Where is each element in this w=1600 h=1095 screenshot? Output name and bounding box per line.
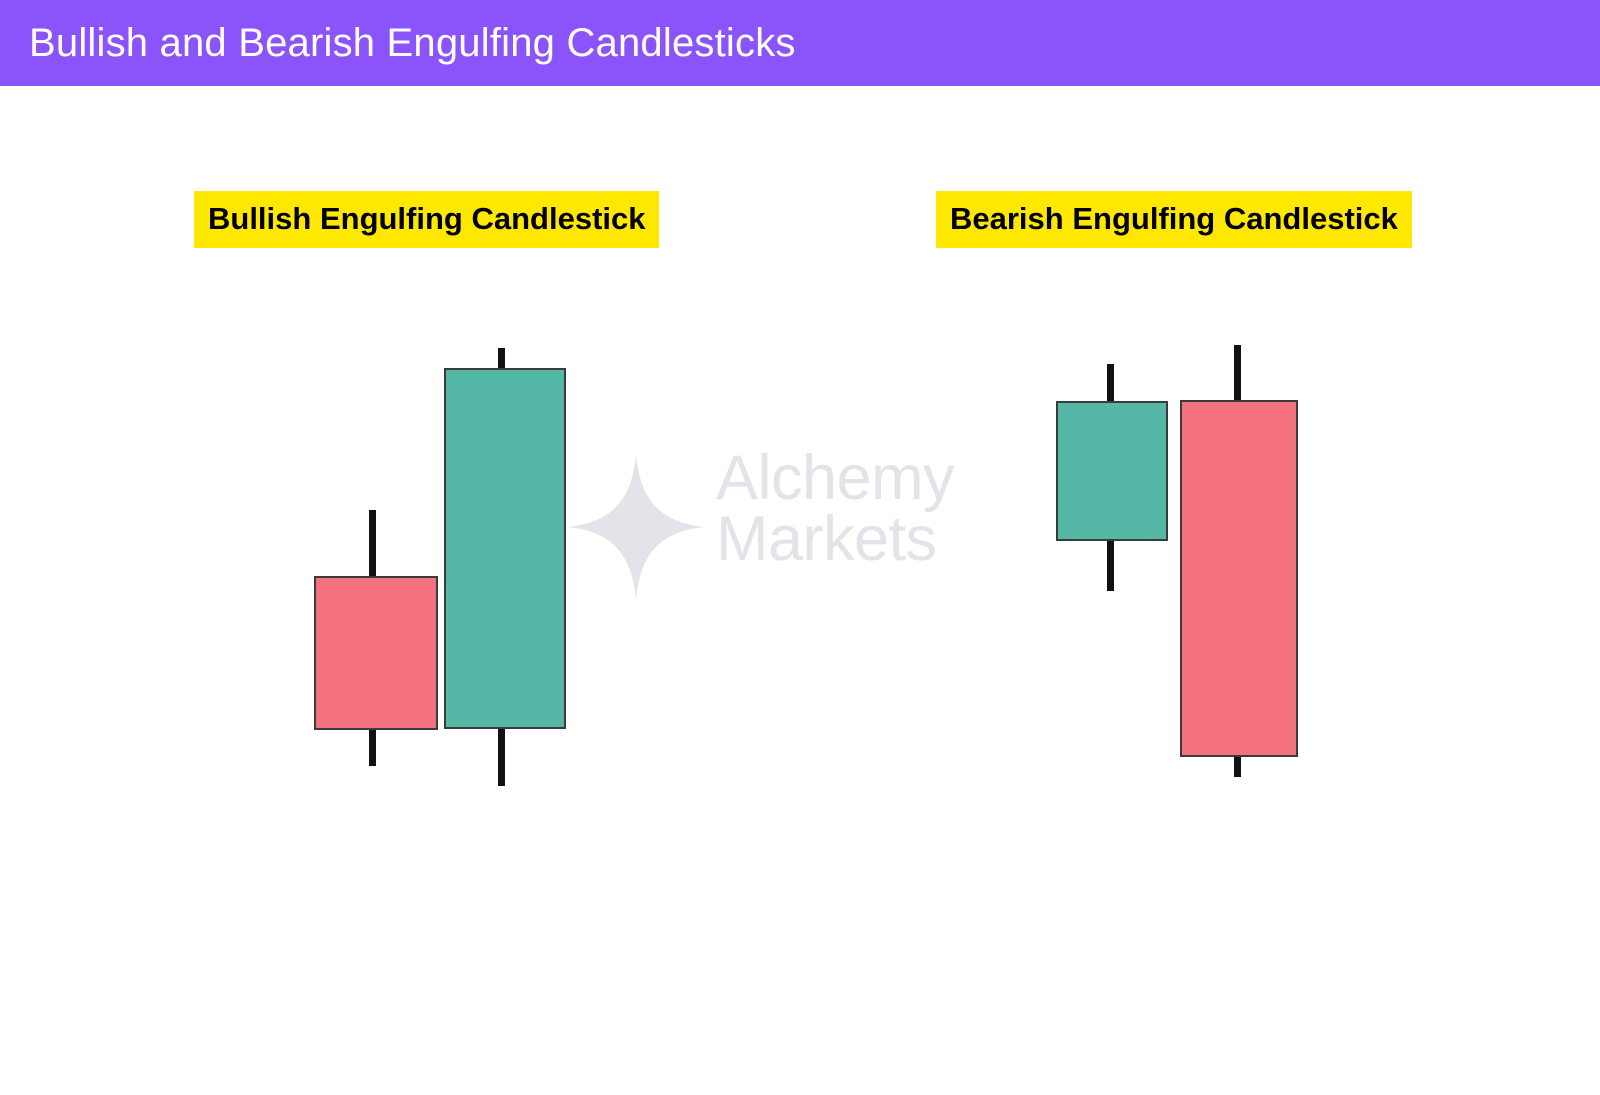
- page-header: Bullish and Bearish Engulfing Candlestic…: [0, 0, 1600, 86]
- candle-body-bearish: [314, 576, 438, 730]
- watermark-line-1: Alchemy: [716, 448, 1026, 509]
- candle-body-bearish: [1180, 400, 1298, 757]
- watermark: Alchemy Markets: [566, 452, 1016, 612]
- alchemy-star-logo-icon: [566, 452, 706, 602]
- bullish-panel-label: Bullish Engulfing Candlestick: [194, 191, 659, 248]
- candle-body-bullish: [444, 368, 566, 729]
- bearish-panel-label: Bearish Engulfing Candlestick: [936, 191, 1412, 248]
- watermark-line-2: Markets: [716, 509, 1026, 570]
- watermark-text: Alchemy Markets: [716, 448, 1026, 570]
- candle-body-bullish: [1056, 401, 1168, 541]
- page-title: Bullish and Bearish Engulfing Candlestic…: [0, 23, 796, 63]
